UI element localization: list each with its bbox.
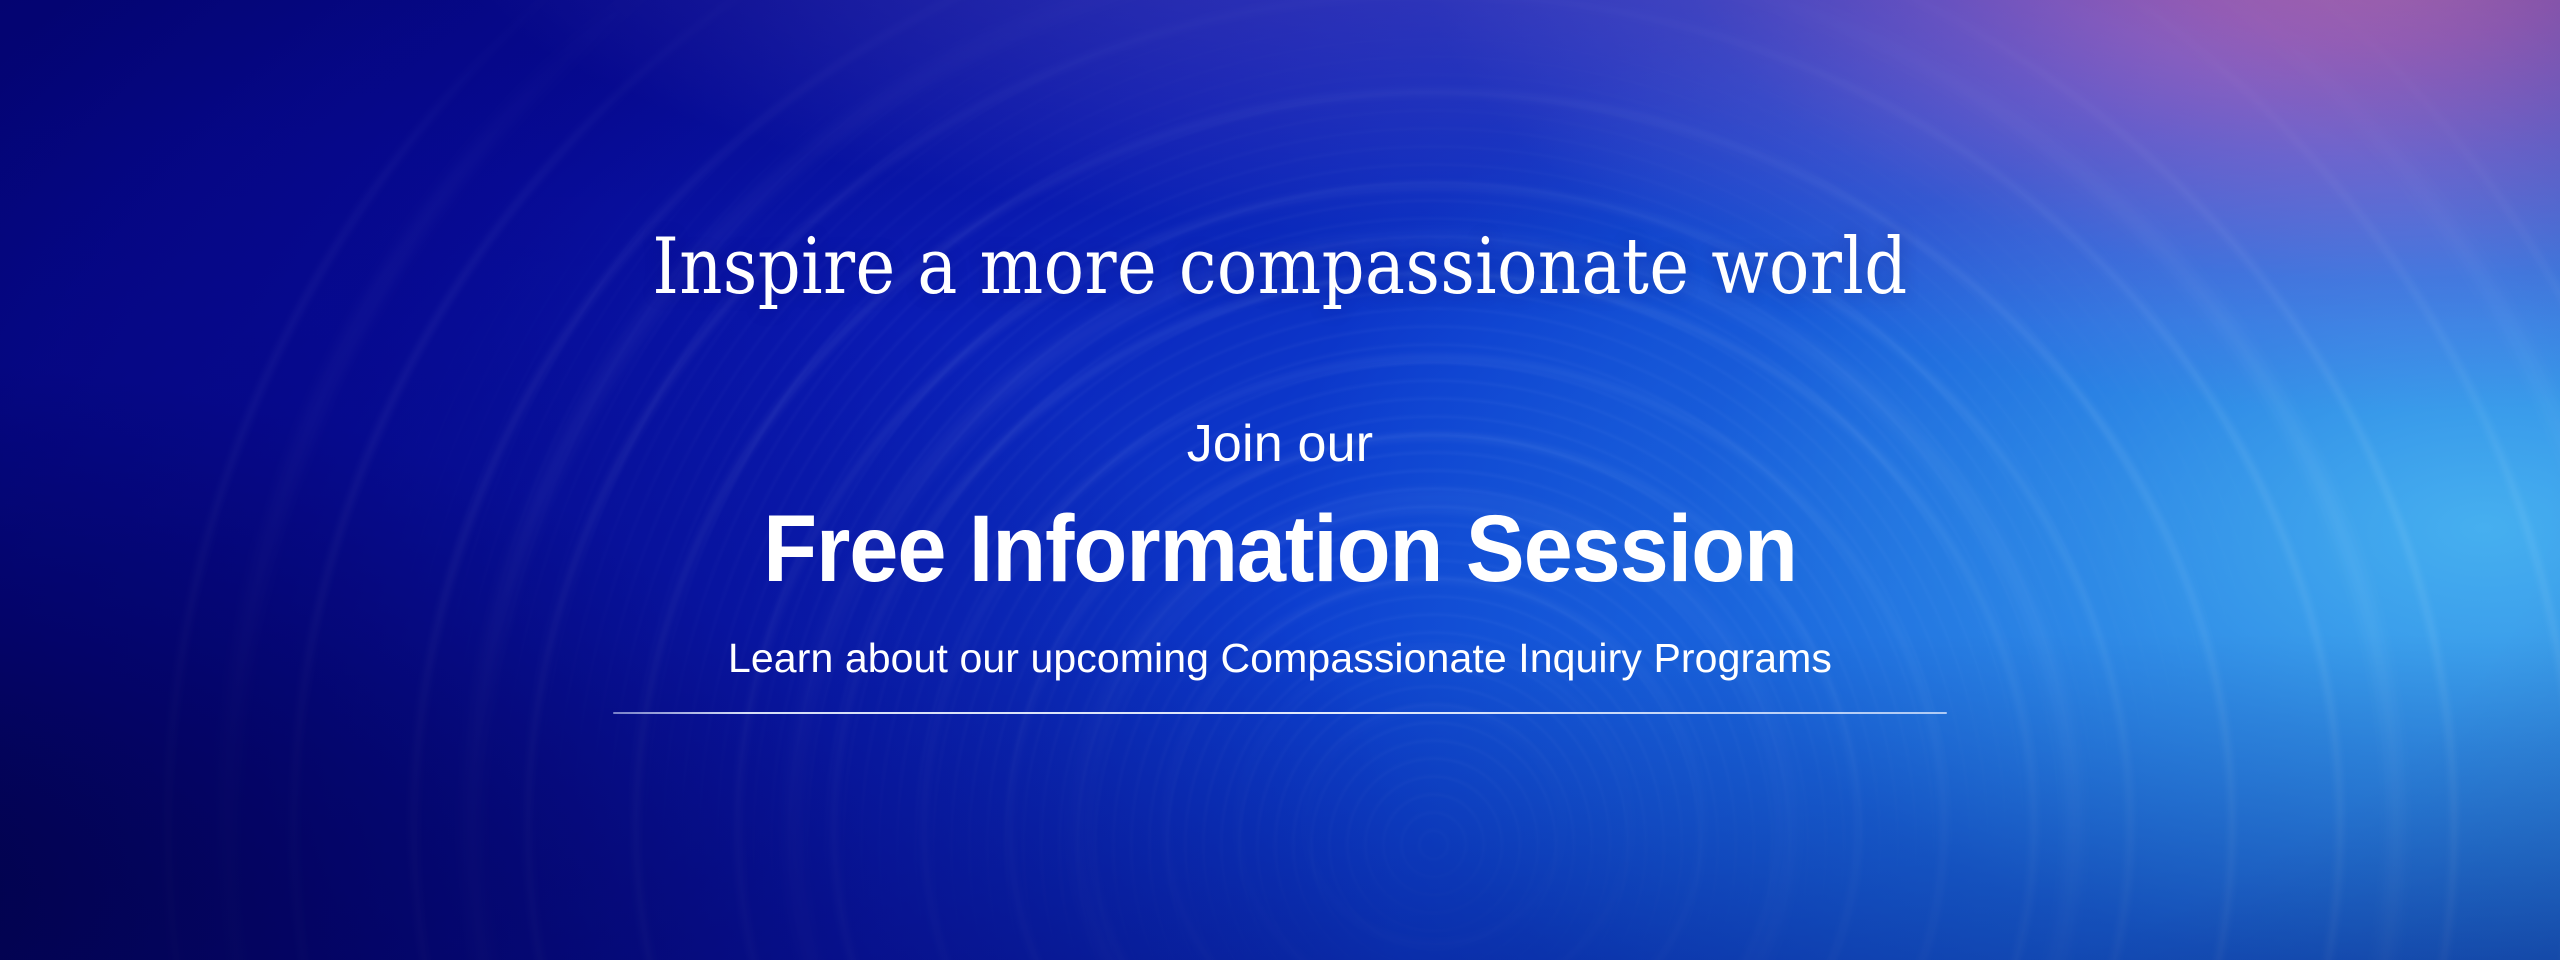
page-title: Free Information Session xyxy=(90,498,2471,601)
divider-container xyxy=(0,712,2560,714)
kicker-text: Join our xyxy=(0,418,2560,470)
subtitle-text: Learn about our upcoming Compassionate I… xyxy=(0,635,2560,682)
tagline-serif: Inspire a more compassionate world xyxy=(179,228,2381,306)
hero-banner: Inspire a more compassionate world Join … xyxy=(0,0,2560,960)
banner-content: Inspire a more compassionate world Join … xyxy=(0,0,2560,960)
horizontal-divider xyxy=(613,712,1947,714)
